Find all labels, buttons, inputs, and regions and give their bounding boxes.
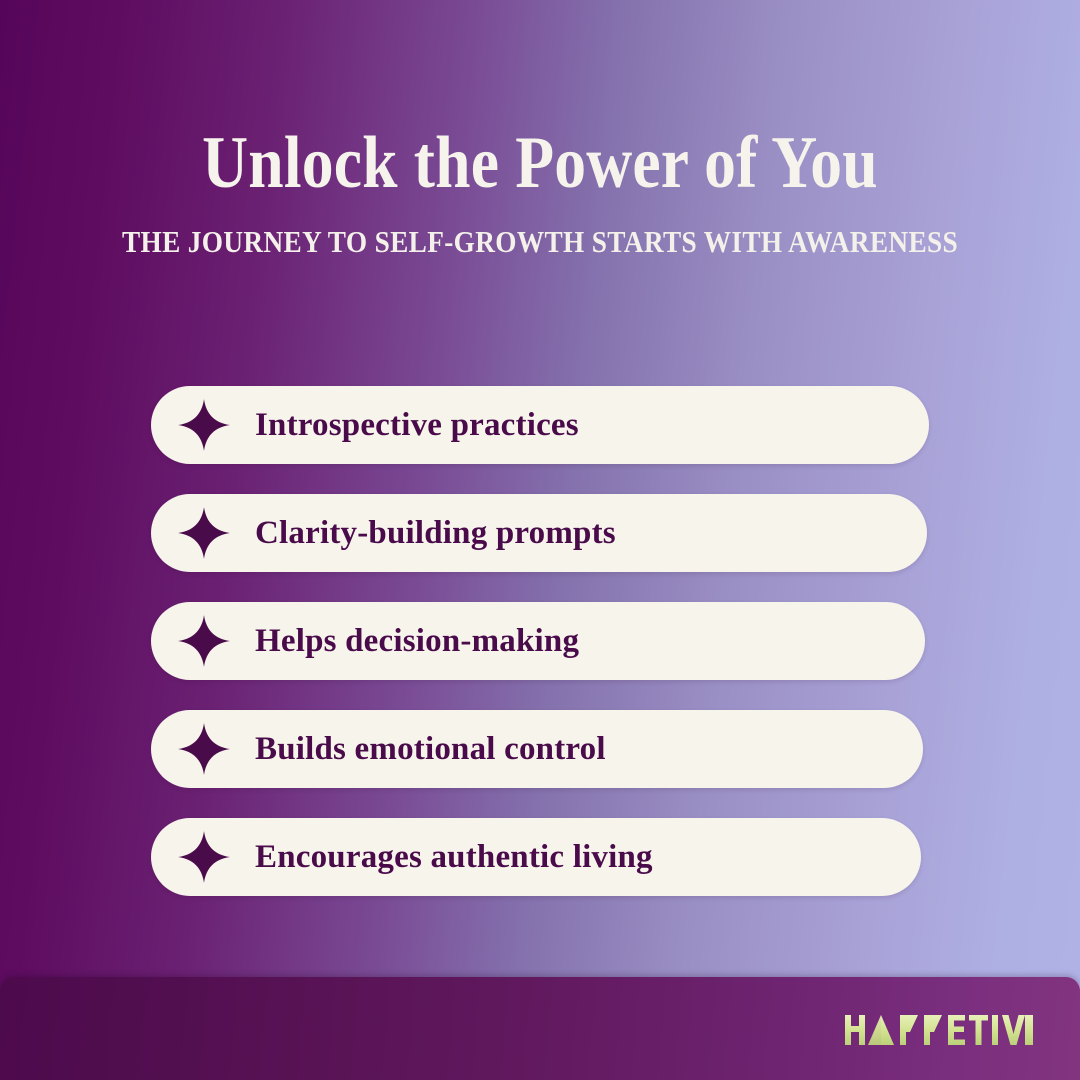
- sparkle-icon: [177, 614, 231, 668]
- sparkle-icon: [177, 722, 231, 776]
- footer-bar: HAPPETIVE: [0, 977, 1080, 1080]
- poster-canvas: Unlock the Power of You THE JOURNEY TO S…: [0, 0, 1080, 1080]
- list-item-label: Introspective practices: [255, 409, 579, 442]
- list-item[interactable]: Encourages authentic living: [151, 818, 921, 896]
- list-item-label: Builds emotional control: [255, 733, 606, 766]
- list-item-label: Clarity-building prompts: [255, 517, 616, 550]
- header-block: Unlock the Power of You THE JOURNEY TO S…: [0, 126, 1080, 257]
- feature-list: Introspective practices Clarity-building…: [151, 386, 941, 896]
- sparkle-icon: [177, 830, 231, 884]
- happetive-wordmark-icon: [844, 1013, 1034, 1047]
- list-item-label: Helps decision-making: [255, 625, 579, 658]
- brand-logo[interactable]: HAPPETIVE: [844, 1007, 1034, 1047]
- list-item[interactable]: Clarity-building prompts: [151, 494, 927, 572]
- list-item[interactable]: Helps decision-making: [151, 602, 925, 680]
- page-subtitle: THE JOURNEY TO SELF-GROWTH STARTS WITH A…: [65, 226, 1015, 257]
- page-title: Unlock the Power of You: [76, 126, 1005, 200]
- list-item[interactable]: Introspective practices: [151, 386, 929, 464]
- sparkle-icon: [177, 398, 231, 452]
- list-item-label: Encourages authentic living: [255, 841, 653, 874]
- list-item[interactable]: Builds emotional control: [151, 710, 923, 788]
- sparkle-icon: [177, 506, 231, 560]
